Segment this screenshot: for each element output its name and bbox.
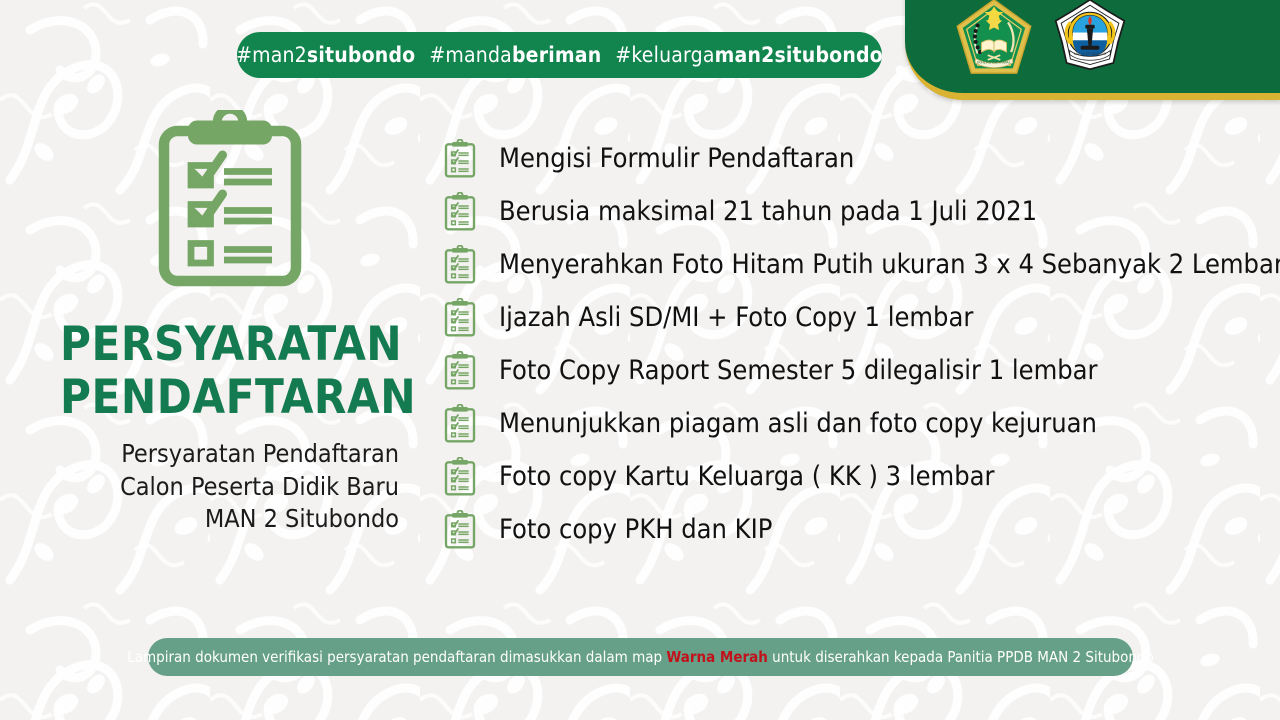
requirement-item: Foto copy Kartu Keluarga ( KK ) 3 lembar: [443, 450, 1243, 503]
hashtag-2-bold: beriman: [512, 43, 601, 67]
hashtag-1-bold: situbondo: [307, 43, 415, 67]
clipboard-checklist-icon: [443, 139, 477, 179]
footer-note-bar: Lampiran dokumen verifikasi persyaratan …: [148, 638, 1133, 676]
hashtag-3-plain: #keluarga: [615, 43, 714, 67]
clipboard-checklist-icon: [443, 351, 477, 391]
hashtag-1-plain: #man2: [236, 43, 307, 67]
requirement-text: Berusia maksimal 21 tahun pada 1 Juli 20…: [499, 198, 1037, 225]
header-banner: IKHLAS BERAMAL MAN 2 SITUBONDO: [905, 0, 1280, 100]
footer-text-before: Lampiran dokumen verifikasi persyaratan …: [127, 648, 666, 666]
kemenag-logo: IKHLAS BERAMAL: [955, 0, 1033, 79]
hashtag-3-bold: man2situbondo: [715, 43, 883, 67]
clipboard-checklist-icon: [155, 110, 305, 290]
clipboard-checklist-icon: [443, 457, 477, 497]
requirement-item: Mengisi Formulir Pendaftaran: [443, 132, 1243, 185]
page-title: PERSYARATAN PENDAFTARAN: [60, 318, 400, 424]
hashtag-banner: #man2situbondo#mandaberiman#keluargaman2…: [237, 32, 882, 78]
title-line-2: PENDAFTARAN: [60, 371, 400, 424]
requirement-text: Foto copy PKH dan KIP: [499, 516, 772, 543]
logo-group: IKHLAS BERAMAL MAN 2 SITUBONDO: [955, 0, 1129, 79]
school-logo: MAN 2 SITUBONDO: [1051, 0, 1129, 79]
hashtag-text: #man2situbondo#mandaberiman#keluargaman2…: [236, 43, 883, 67]
svg-text:IKHLAS BERAMAL: IKHLAS BERAMAL: [977, 60, 1011, 65]
requirement-item: Menunjukkan piagam asli dan foto copy ke…: [443, 397, 1243, 450]
clipboard-checklist-icon: [443, 192, 477, 232]
clipboard-checklist-icon: [443, 510, 477, 550]
subtitle-line-2: Calon Peserta Didik Baru: [60, 471, 399, 504]
requirement-text: Menunjukkan piagam asli dan foto copy ke…: [499, 410, 1097, 437]
footer-highlight: Warna Merah: [666, 648, 767, 666]
title-line-1: PERSYARATAN: [60, 317, 402, 372]
clipboard-checklist-icon: [443, 245, 477, 285]
subtitle-line-1: Persyaratan Pendaftaran: [60, 438, 399, 471]
page-subtitle: Persyaratan Pendaftaran Calon Peserta Di…: [60, 438, 400, 536]
footer-note-text: Lampiran dokumen verifikasi persyaratan …: [127, 648, 1154, 666]
requirement-text: Foto Copy Raport Semester 5 dilegalisir …: [499, 357, 1098, 384]
requirement-text: Foto copy Kartu Keluarga ( KK ) 3 lembar: [499, 463, 994, 490]
requirement-item: Berusia maksimal 21 tahun pada 1 Juli 20…: [443, 185, 1243, 238]
requirement-item: Menyerahkan Foto Hitam Putih ukuran 3 x …: [443, 238, 1243, 291]
svg-text:MAN 2 SITUBONDO: MAN 2 SITUBONDO: [1074, 52, 1106, 56]
hashtag-2-plain: #manda: [429, 43, 512, 67]
clipboard-checklist-icon: [443, 298, 477, 338]
requirement-item: Foto copy PKH dan KIP: [443, 503, 1243, 556]
footer-text-after: untuk diserahkan kepada Panitia PPDB MAN…: [768, 648, 1154, 666]
requirement-item: Ijazah Asli SD/MI + Foto Copy 1 lembar: [443, 291, 1243, 344]
requirement-text: Ijazah Asli SD/MI + Foto Copy 1 lembar: [499, 304, 973, 331]
title-column: PERSYARATAN PENDAFTARAN Persyaratan Pend…: [60, 110, 400, 536]
requirements-list: Mengisi Formulir Pendaftaran Berusia mak…: [443, 132, 1243, 556]
requirement-text: Menyerahkan Foto Hitam Putih ukuran 3 x …: [499, 251, 1280, 278]
requirement-item: Foto Copy Raport Semester 5 dilegalisir …: [443, 344, 1243, 397]
requirement-text: Mengisi Formulir Pendaftaran: [499, 145, 854, 172]
subtitle-line-3: MAN 2 Situbondo: [60, 503, 399, 536]
clipboard-checklist-icon: [443, 404, 477, 444]
